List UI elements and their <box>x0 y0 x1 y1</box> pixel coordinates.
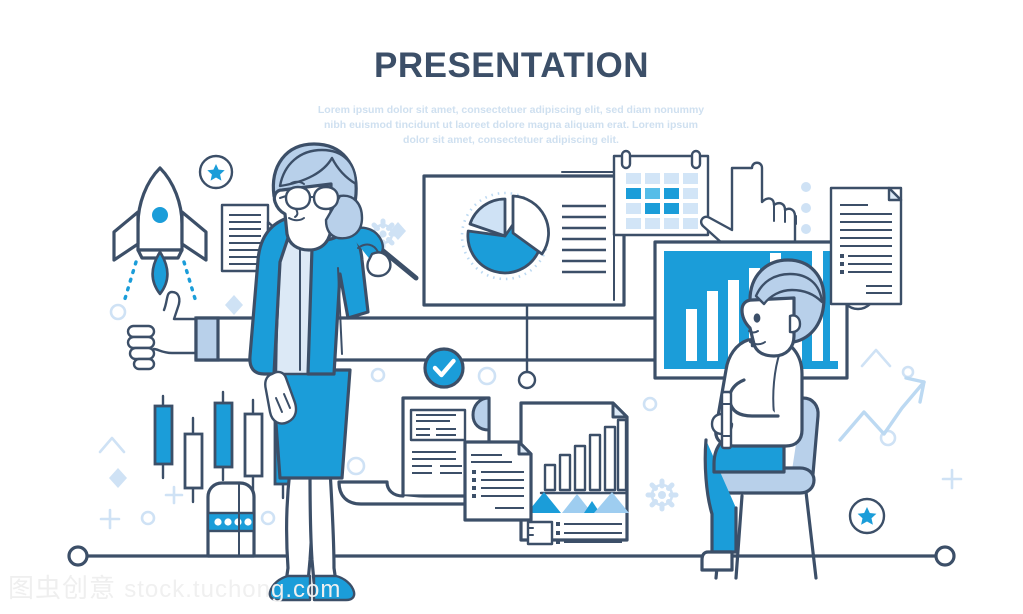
server-rack-icon <box>208 483 254 556</box>
star-badge-top-left <box>200 156 232 188</box>
businesswoman-presenter <box>250 144 416 600</box>
page-title: PRESENTATION <box>0 46 1023 86</box>
presentation-illustration: .o { fill:none; stroke:#3c4f68; stroke-w… <box>0 0 1023 614</box>
document-icon-right <box>831 188 901 304</box>
report-document <box>521 403 629 544</box>
check-circle-badge <box>425 349 463 387</box>
ground-baseline <box>69 547 954 565</box>
pie-chart-legend <box>562 206 606 272</box>
front-document <box>465 442 531 520</box>
watermark-cn: 图虫创意 <box>8 573 116 603</box>
gear-icon-bottom <box>648 481 676 509</box>
trend-up-arrow <box>840 378 924 440</box>
watermark: 图虫创意 stock.tuchong.com <box>8 568 341 605</box>
page-subtitle: Lorem ipsum dolor sit amet, consectetuer… <box>311 103 711 148</box>
star-badge-bottom-right <box>850 499 884 533</box>
watermark-en: stock.tuchong.com <box>124 576 341 603</box>
pie-chart-board <box>424 176 624 305</box>
rocket-icon <box>114 168 206 302</box>
illustration-canvas: .o { fill:none; stroke:#3c4f68; stroke-w… <box>0 0 1023 614</box>
thumbs-up-icon <box>128 292 196 369</box>
